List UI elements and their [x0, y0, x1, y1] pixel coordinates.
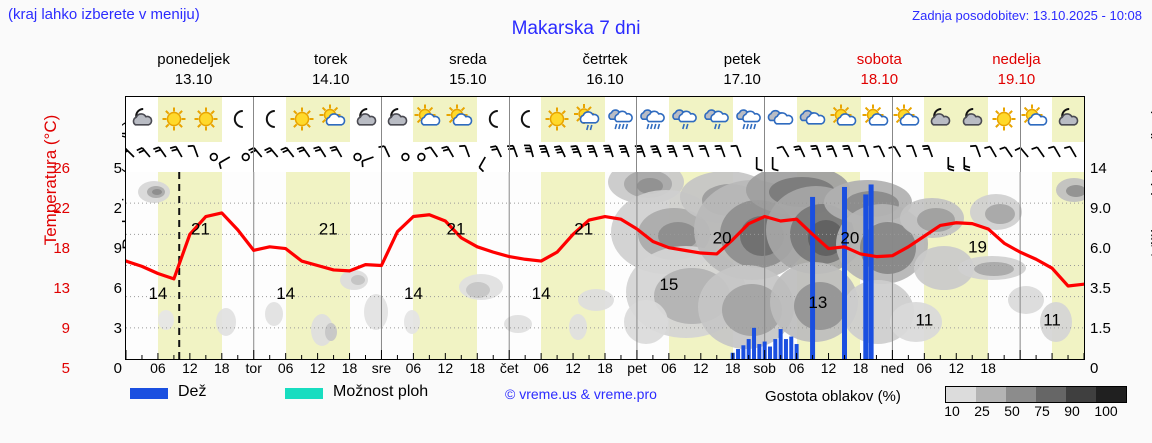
- wind-barb: [964, 157, 970, 171]
- cloud-height-tick-1: 9.0: [1090, 200, 1138, 217]
- weather-icon-moon-cloud: [1052, 97, 1084, 142]
- weather-icon-moon: [509, 97, 541, 142]
- svg-text:14: 14: [404, 284, 423, 303]
- weather-icon-moon-cloud: [126, 97, 158, 142]
- cloud-density-label-90: 90: [1064, 403, 1080, 419]
- day-separator: [253, 97, 254, 142]
- temperature-tick-0: 26: [30, 160, 70, 177]
- weather-icon-sun: [988, 97, 1020, 142]
- day-date: 19.10: [948, 70, 1085, 90]
- x-axis-label-12: 12: [182, 360, 198, 376]
- last-update-label: Zadnja posodobitev: 13.10.2025 - 10:08: [912, 8, 1142, 23]
- day-separator: [381, 97, 382, 142]
- wind-barb: [242, 154, 249, 161]
- x-axis-label-12: 12: [565, 360, 581, 376]
- weather-icon-cloud: [797, 97, 829, 142]
- svg-text:15: 15: [659, 275, 678, 294]
- x-axis-label-12: 12: [821, 360, 837, 376]
- day-name: nedelja: [948, 50, 1085, 70]
- x-axis-label-ned: ned: [881, 360, 904, 376]
- day-header-row: ponedeljek13.10torek14.10sreda15.10četrt…: [125, 50, 1085, 94]
- temperature-tick-5: 5: [30, 360, 70, 377]
- cloud-density-field: [138, 172, 1084, 349]
- precipitation-axis-ticks: 529630: [96, 160, 122, 365]
- day-date: 14.10: [262, 70, 399, 90]
- wind-barb: [922, 146, 932, 157]
- precipitation-tick-0: 5: [96, 160, 122, 177]
- wind-barb: [1064, 147, 1076, 157]
- weather-icon-sun: [190, 97, 222, 142]
- x-axis-label-12: 12: [438, 360, 454, 376]
- wind-barb: [699, 146, 709, 157]
- day-name: torek: [262, 50, 399, 70]
- x-axis-label-06: 06: [150, 360, 166, 376]
- weather-icon-sun: [541, 97, 573, 142]
- day-separator: [892, 97, 893, 142]
- weather-icon-moon: [477, 97, 509, 142]
- rain-legend-label: Dež: [178, 383, 206, 401]
- wind-barb: [459, 146, 469, 157]
- x-axis-label-18: 18: [469, 360, 485, 376]
- svg-text:21: 21: [191, 220, 210, 239]
- wind-barb: [794, 146, 805, 157]
- x-axis-labels: 061218tor061218sre061218čet061218pet0612…: [125, 360, 1085, 380]
- day-header-6: sobota18.10: [811, 50, 948, 94]
- wind-barb: [650, 146, 660, 157]
- wind-barb: [587, 146, 597, 157]
- cloud-density-step-75: [1036, 387, 1066, 402]
- x-axis-label-tor: tor: [246, 360, 262, 376]
- temperature-tick-4: 9: [30, 320, 70, 337]
- wind-barb: [715, 146, 725, 157]
- precipitation-tick-5: 0: [96, 360, 122, 377]
- wind-barb: [603, 146, 613, 157]
- wind-barb-row: [126, 142, 1084, 173]
- temperature-tick-2: 18: [30, 240, 70, 257]
- wind-barb: [539, 146, 549, 157]
- day-separator: [636, 97, 637, 142]
- day-separator: [509, 97, 510, 142]
- wind-barb: [313, 147, 325, 157]
- x-axis-label-12: 12: [310, 360, 326, 376]
- day-date: 18.10: [811, 70, 948, 90]
- day-name: sobota: [811, 50, 948, 70]
- weather-icon-moon: [222, 97, 254, 142]
- day-separator: [253, 142, 254, 172]
- svg-text:20: 20: [713, 228, 732, 247]
- precipitation-tick-3: 6: [96, 280, 122, 297]
- weather-icon-cloud-rain-light: [669, 97, 701, 142]
- x-axis-label-18: 18: [214, 360, 230, 376]
- day-separator: [764, 97, 765, 142]
- day-separator: [1020, 97, 1021, 142]
- temperature-tick-3: 13: [30, 280, 70, 297]
- day-header-5: petek17.10: [674, 50, 811, 94]
- weather-icon-sun-cloud: [318, 97, 350, 142]
- cloud-density-label-10: 10: [944, 403, 960, 419]
- weather-icon-sun-cloud: [861, 97, 893, 142]
- wind-barb: [906, 146, 916, 157]
- weather-icon-sun-cloud: [1020, 97, 1052, 142]
- cloud-height-tick-4: 1.5: [1090, 320, 1138, 337]
- showers-legend-label: Možnost ploh: [333, 383, 428, 401]
- wind-barb: [170, 147, 182, 157]
- weather-icon-cloud: [765, 97, 797, 142]
- x-axis-label-06: 06: [789, 360, 805, 376]
- x-axis-label-pet: pet: [627, 360, 646, 376]
- day-name: petek: [674, 50, 811, 70]
- cloud-height-tick-5: 0: [1090, 360, 1138, 377]
- weather-icon-sun-cloud-rain: [573, 97, 605, 142]
- wind-barb: [188, 146, 198, 157]
- x-axis-label-12: 12: [693, 360, 709, 376]
- x-axis-label-06: 06: [278, 360, 294, 376]
- wind-barb: [889, 147, 901, 157]
- svg-text:14: 14: [148, 284, 167, 303]
- weather-icon-row: [126, 97, 1084, 142]
- day-date: 15.10: [399, 70, 536, 90]
- wind-barb: [757, 157, 763, 171]
- day-header-7: nedelja19.10: [948, 50, 1085, 94]
- wind-barb: [354, 154, 361, 161]
- svg-text:21: 21: [574, 220, 593, 239]
- temperature-tick-1: 22: [30, 200, 70, 217]
- x-axis-label-12: 12: [948, 360, 964, 376]
- wind-barb: [731, 146, 741, 157]
- x-axis-label-18: 18: [342, 360, 358, 376]
- cloud-density-legend-title: Gostota oblakov (%): [765, 388, 901, 405]
- day-separator: [381, 142, 382, 172]
- wind-barb: [126, 149, 134, 157]
- chart-plot-area: 142114211421142115201320111911: [126, 172, 1084, 359]
- day-separator: [892, 142, 893, 172]
- day-separator: [636, 142, 637, 172]
- x-axis-label-06: 06: [533, 360, 549, 376]
- precipitation-tick-4: 3: [96, 320, 122, 337]
- svg-text:20: 20: [840, 228, 859, 247]
- copyright-label: © vreme.us & vreme.pro: [505, 386, 657, 402]
- wind-barb: [297, 147, 310, 157]
- day-separator: [764, 142, 765, 172]
- x-axis-label-06: 06: [406, 360, 422, 376]
- legend: Dež Možnost ploh © vreme.us & vreme.pro …: [130, 386, 1150, 426]
- wind-barb: [858, 146, 868, 157]
- cloud-density-scale-labels: 1025507590100: [938, 403, 1138, 421]
- weather-icon-sun-cloud: [413, 97, 445, 142]
- cloud-density-label-50: 50: [1004, 403, 1020, 419]
- weather-icon-cloud-rain-heavy: [605, 97, 637, 142]
- cloud-density-step-90: [1066, 387, 1096, 402]
- x-axis-label-18: 18: [597, 360, 613, 376]
- wind-barb: [777, 147, 789, 157]
- svg-text:13: 13: [808, 293, 827, 312]
- day-header-1: ponedeljek13.10: [125, 50, 262, 94]
- weather-icon-moon-cloud: [350, 97, 382, 142]
- x-axis-label-06: 06: [917, 360, 933, 376]
- weather-icon-moon-cloud: [924, 97, 956, 142]
- day-separator: [1020, 142, 1021, 172]
- wind-barb: [137, 148, 150, 157]
- cloud-height-axis-ticks: 149.06.03.51.50: [1090, 160, 1138, 365]
- wind-barb: [210, 154, 217, 161]
- x-axis-label-čet: čet: [500, 360, 519, 376]
- x-axis-label-sre: sre: [372, 360, 391, 376]
- weather-icon-sun-cloud: [445, 97, 477, 142]
- day-header-3: sreda15.10: [399, 50, 536, 94]
- weather-icon-moon-cloud: [382, 97, 414, 142]
- wind-barb: [842, 146, 852, 157]
- weather-icon-sun-cloud: [893, 97, 925, 142]
- cloud-density-label-75: 75: [1034, 403, 1050, 419]
- cloud-density-step-25: [976, 387, 1006, 402]
- rain-legend-swatch: [130, 388, 168, 399]
- svg-text:14: 14: [532, 284, 551, 303]
- cloud-density-label-25: 25: [974, 403, 990, 419]
- wind-barb: [265, 148, 278, 157]
- showers-legend-swatch: [285, 388, 323, 399]
- cloud-height-axis-title: Višina oblakov (km): [1148, 82, 1152, 282]
- wind-barb: [219, 157, 229, 169]
- wind-barb: [402, 154, 409, 161]
- wind-barb: [984, 147, 996, 157]
- day-name: četrtek: [536, 50, 673, 70]
- wind-barb: [490, 146, 501, 157]
- weather-icon-moon-cloud: [956, 97, 988, 142]
- x-axis-label-18: 18: [980, 360, 996, 376]
- svg-text:11: 11: [1043, 311, 1061, 330]
- wind-barb: [362, 157, 373, 167]
- wind-barb: [667, 146, 677, 157]
- day-date: 17.10: [674, 70, 811, 90]
- wind-barb: [773, 157, 779, 171]
- wind-barb: [1032, 147, 1045, 157]
- weather-icon-cloud-rain-heavy: [637, 97, 669, 142]
- wind-barb: [418, 154, 425, 161]
- svg-text:21: 21: [447, 220, 466, 239]
- wind-barb: [873, 146, 884, 157]
- wind-barb: [442, 147, 454, 157]
- cloud-density-step-10: [946, 387, 976, 402]
- wind-barb: [1015, 148, 1028, 157]
- cloud-density-label-100: 100: [1094, 403, 1117, 419]
- temperature-axis-ticks: 2622181395: [30, 160, 70, 365]
- x-axis-ticks: [126, 350, 1084, 359]
- wind-barb: [153, 147, 166, 157]
- wind-barb: [970, 146, 980, 157]
- day-date: 13.10: [125, 70, 262, 90]
- cloud-density-step-50: [1006, 387, 1036, 402]
- wind-barb: [1000, 147, 1013, 157]
- x-axis-label-18: 18: [853, 360, 869, 376]
- weather-icon-sun: [286, 97, 318, 142]
- wind-barb: [683, 146, 693, 157]
- svg-text:11: 11: [916, 311, 934, 330]
- wind-barb: [330, 147, 342, 157]
- precipitation-tick-2: 9: [96, 240, 122, 257]
- day-separator: [509, 142, 510, 172]
- weather-icon-cloud-rain-light: [701, 97, 733, 142]
- cloud-height-tick-2: 6.0: [1090, 240, 1138, 257]
- wind-barb: [1048, 147, 1060, 157]
- x-axis-label-sob: sob: [753, 360, 776, 376]
- wind-barb: [249, 148, 262, 157]
- day-name: ponedeljek: [125, 50, 262, 70]
- svg-text:14: 14: [276, 284, 295, 303]
- cloud-density-step-100: [1096, 387, 1126, 402]
- day-name: sreda: [399, 50, 536, 70]
- day-header-4: četrtek16.10: [536, 50, 673, 94]
- wind-barb: [281, 148, 294, 157]
- wind-barb: [524, 145, 533, 157]
- wind-barb: [810, 146, 820, 157]
- svg-text:21: 21: [319, 220, 338, 239]
- day-date: 16.10: [536, 70, 673, 90]
- wind-barb: [479, 157, 485, 172]
- cloud-density-scale: [945, 386, 1127, 403]
- x-axis-label-06: 06: [661, 360, 677, 376]
- weather-icon-moon: [254, 97, 286, 142]
- wind-barb: [619, 146, 629, 157]
- cloud-height-tick-0: 14: [1090, 160, 1138, 177]
- svg-text:19: 19: [968, 237, 987, 256]
- wind-barb: [826, 146, 836, 157]
- wind-barb: [948, 157, 954, 171]
- weather-icon-cloud-rain-heavy: [733, 97, 765, 142]
- day-header-2: torek14.10: [262, 50, 399, 94]
- weather-icon-sun: [158, 97, 190, 142]
- x-axis-label-18: 18: [725, 360, 741, 376]
- wind-barb: [571, 146, 581, 157]
- cloud-height-tick-3: 3.5: [1090, 280, 1138, 297]
- weather-icon-sun-cloud: [829, 97, 861, 142]
- wind-barb: [425, 147, 438, 157]
- wind-barb: [554, 146, 565, 157]
- precipitation-tick-1: 2: [96, 200, 122, 217]
